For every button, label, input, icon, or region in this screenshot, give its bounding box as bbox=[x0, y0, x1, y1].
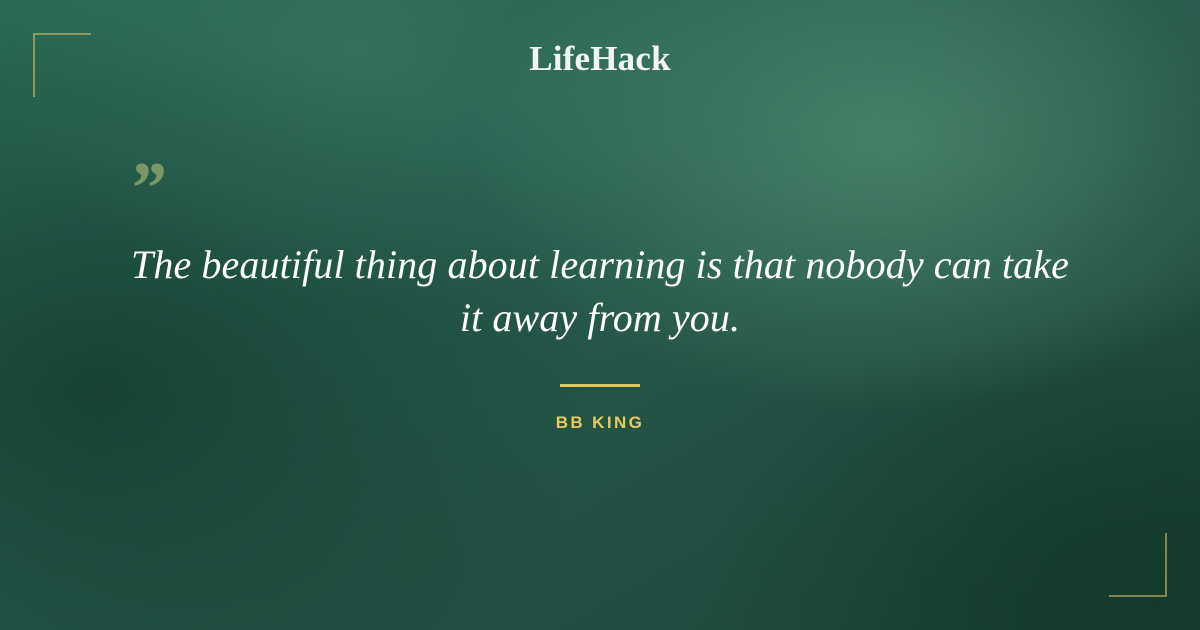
quote-author: BB KING bbox=[0, 413, 1200, 433]
quotation-mark-icon: ” bbox=[128, 152, 165, 226]
brand-logo: LifeHack bbox=[0, 40, 1200, 79]
divider bbox=[560, 384, 640, 387]
quote-line-2: it away from you. bbox=[100, 291, 1100, 344]
quote-line-1: The beautiful thing about learning is th… bbox=[100, 238, 1100, 291]
quote-block: The beautiful thing about learning is th… bbox=[100, 238, 1100, 344]
corner-bracket-bottom-right-icon bbox=[1109, 533, 1167, 597]
quote-card: LifeHack ” The beautiful thing about lea… bbox=[0, 0, 1200, 630]
